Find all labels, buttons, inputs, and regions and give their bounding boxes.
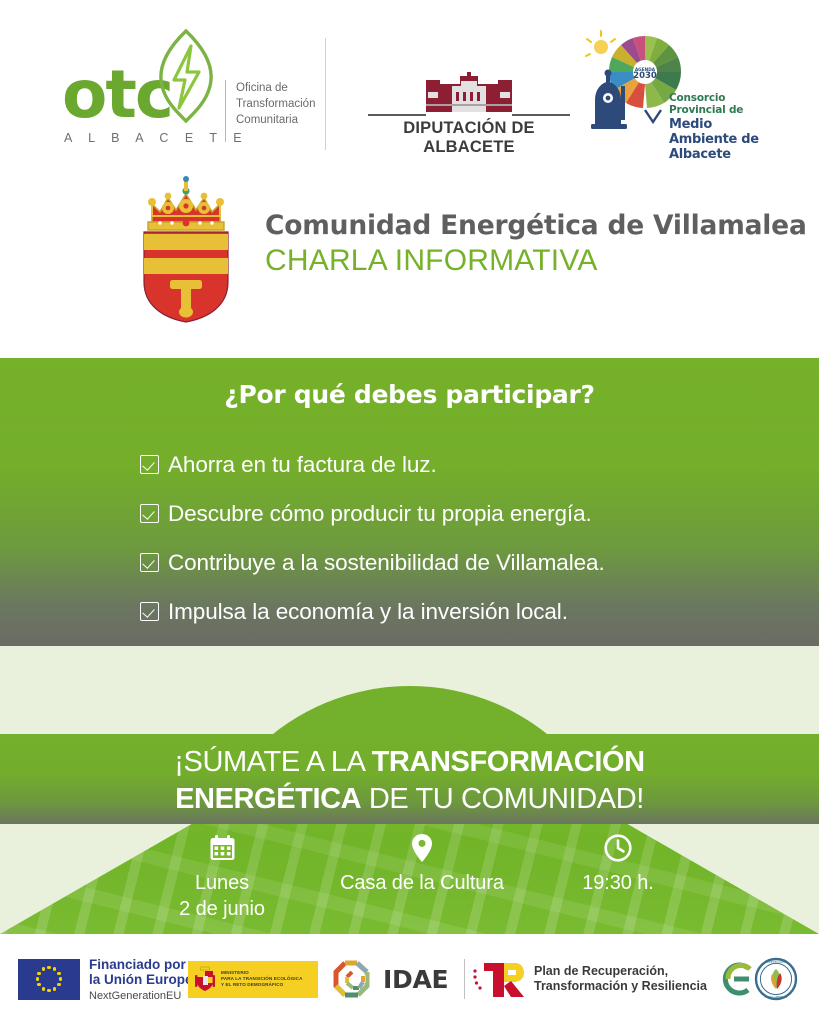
benefits-list: Ahorra en tu factura de luz. Descubre có… <box>140 440 760 636</box>
cta-arch <box>0 686 819 736</box>
eu-star-icon <box>37 983 40 986</box>
otc-logo: otc A L B A C E T E Oficina de Transform… <box>62 28 297 148</box>
consorcio-logo: AGENDA 2030 Consorcio Provincial de Medi… <box>583 30 773 142</box>
list-item: Descubre cómo producir tu propia energía… <box>140 489 760 538</box>
checkbox-checked-icon <box>140 504 159 523</box>
eco-certification-icon: CERTIFICADO MEDIO AMBIENTE <box>718 956 806 1002</box>
cta-line1: ¡SÚMATE A LA TRANSFORMACIÓN <box>0 744 819 781</box>
title-text: Comunidad Energética de Villamalea CHARL… <box>265 210 807 278</box>
eu-star-icon <box>37 972 40 975</box>
event-place-line1: Casa de la Cultura <box>322 870 522 896</box>
eu-star-icon <box>47 966 50 969</box>
prtr-mark-icon <box>471 957 527 1001</box>
list-item: Ahorra en tu factura de luz. <box>140 440 760 489</box>
diputacion-rules <box>364 114 574 116</box>
idae-divider <box>464 959 465 999</box>
otc-subtitle: Oficina de Transformación Comunitaria <box>236 80 346 128</box>
consorcio-text: Consorcio Provincial de Medio Ambiente d… <box>669 92 773 162</box>
header-logos: otc A L B A C E T E Oficina de Transform… <box>0 0 819 165</box>
eu-line1: Financiado por <box>89 957 200 972</box>
calendar-icon <box>142 832 302 864</box>
list-item: Impulsa la economía y la inversión local… <box>140 587 760 636</box>
eu-star-icon <box>59 977 62 980</box>
list-item-label: Contribuye a la sostenibilidad de Villam… <box>168 550 605 576</box>
eu-star-icon <box>36 977 39 980</box>
eco-logo: CERTIFICADO MEDIO AMBIENTE <box>718 934 806 1024</box>
prtr-text: Plan de Recuperación, Transformación y R… <box>534 964 707 995</box>
event-place-text: Casa de la Cultura <box>322 870 522 896</box>
cta-part3: ENERGÉTICA <box>175 783 361 815</box>
eu-funding-text: Financiado por la Unión Europea NextGene… <box>89 957 200 1002</box>
otc-divider <box>225 80 226 142</box>
checkbox-checked-icon <box>140 455 159 474</box>
checkbox-checked-icon <box>140 553 159 572</box>
title-line-community: Comunidad Energética de Villamalea <box>265 210 807 241</box>
prtr-logo: Plan de Recuperación, Transformación y R… <box>471 934 707 1024</box>
eu-star-icon <box>42 987 45 990</box>
eu-star-icon <box>57 983 60 986</box>
otc-subtitle-line3: Comunitaria <box>236 112 346 128</box>
diputacion-label: DIPUTACIÓN DE ALBACETE <box>364 119 574 157</box>
prtr-line2: Transformación y Resiliencia <box>534 979 707 995</box>
list-item-label: Impulsa la economía y la inversión local… <box>168 599 568 625</box>
ministerio-logo: MINISTERIO PARA LA TRANSICIÓN ECOLÓGICA … <box>188 934 318 1024</box>
checkbox-checked-icon <box>140 602 159 621</box>
event-time: 19:30 h. <box>528 832 708 896</box>
otc-locality: A L B A C E T E <box>64 131 248 145</box>
eu-line2: la Unión Europea <box>89 972 200 987</box>
title-block: Comunidad Energética de Villamalea CHARL… <box>0 170 819 325</box>
event-date-text: Lunes 2 de junio <box>142 870 302 922</box>
title-line-charla: CHARLA INFORMATIVA <box>265 244 807 278</box>
eu-flag-icon <box>18 959 80 1000</box>
diputacion-logo: DIPUTACIÓN DE ALBACETE <box>364 72 574 142</box>
map-pin-icon <box>322 832 522 864</box>
eu-star-icon <box>42 967 45 970</box>
event-time-text: 19:30 h. <box>528 870 708 896</box>
event-details: Lunes 2 de junio Casa de la Cultura <box>0 832 819 927</box>
poster: otc A L B A C E T E Oficina de Transform… <box>0 0 819 1024</box>
otc-leaf-bolt-icon <box>155 28 217 126</box>
diputacion-building-icon <box>364 72 574 112</box>
svg-text:MEDIO AMBIENTE: MEDIO AMBIENTE <box>765 995 788 999</box>
idae-mark-icon <box>331 957 377 1001</box>
eu-star-icon <box>53 987 56 990</box>
eu-line3: NextGenerationEU <box>89 990 200 1002</box>
event-date-line2: 2 de junio <box>142 896 302 922</box>
prtr-line1: Plan de Recuperación, <box>534 964 707 980</box>
idae-logo: IDAE <box>331 934 465 1024</box>
cta-message: ¡SÚMATE A LA TRANSFORMACIÓN ENERGÉTICA D… <box>0 744 819 818</box>
villamalea-shield-icon <box>134 176 238 324</box>
cta-part1: ¡SÚMATE A LA <box>174 746 371 778</box>
header-divider <box>325 38 326 150</box>
list-item: Contribuye a la sostenibilidad de Villam… <box>140 538 760 587</box>
svg-text:2030: 2030 <box>633 71 657 81</box>
cta-section: ¡SÚMATE A LA TRANSFORMACIÓN ENERGÉTICA D… <box>0 646 819 934</box>
ministerio-line3: Y EL RETO DEMOGRÁFICO <box>221 982 303 988</box>
event-date-line1: Lunes <box>142 870 302 896</box>
event-date: Lunes 2 de junio <box>142 832 302 922</box>
spain-coat-of-arms-icon <box>193 965 217 993</box>
event-place: Casa de la Cultura <box>322 832 522 896</box>
cta-part2: TRANSFORMACIÓN <box>372 746 645 778</box>
benefits-panel: ¿Por qué debes participar? Ahorra en tu … <box>0 358 819 646</box>
eu-star-icon <box>53 967 56 970</box>
eu-star-icon <box>57 972 60 975</box>
consorcio-line1: Consorcio Provincial de <box>669 92 773 116</box>
eu-funding-logo: Financiado por la Unión Europea NextGene… <box>18 934 200 1024</box>
footer-logos: Financiado por la Unión Europea NextGene… <box>0 934 819 1024</box>
benefits-heading: ¿Por qué debes participar? <box>0 380 819 409</box>
otc-subtitle-line1: Oficina de <box>236 80 346 96</box>
clock-icon <box>528 832 708 864</box>
list-item-label: Descubre cómo producir tu propia energía… <box>168 501 592 527</box>
ministerio-text: MINISTERIO PARA LA TRANSICIÓN ECOLÓGICA … <box>221 970 303 989</box>
svg-text:CERTIFICADO: CERTIFICADO <box>767 960 784 964</box>
cta-line2: ENERGÉTICA DE TU COMUNIDAD! <box>0 781 819 818</box>
consorcio-line2: Medio Ambiente de Albacete <box>669 117 773 162</box>
otc-subtitle-line2: Transformación <box>236 96 346 112</box>
ministerio-box: MINISTERIO PARA LA TRANSICIÓN ECOLÓGICA … <box>188 961 318 998</box>
event-time-line1: 19:30 h. <box>528 870 708 896</box>
list-item-label: Ahorra en tu factura de luz. <box>168 452 437 478</box>
cta-part4: DE TU COMUNIDAD! <box>361 783 644 815</box>
idae-label: IDAE <box>383 965 448 994</box>
eu-star-icon <box>47 989 50 992</box>
